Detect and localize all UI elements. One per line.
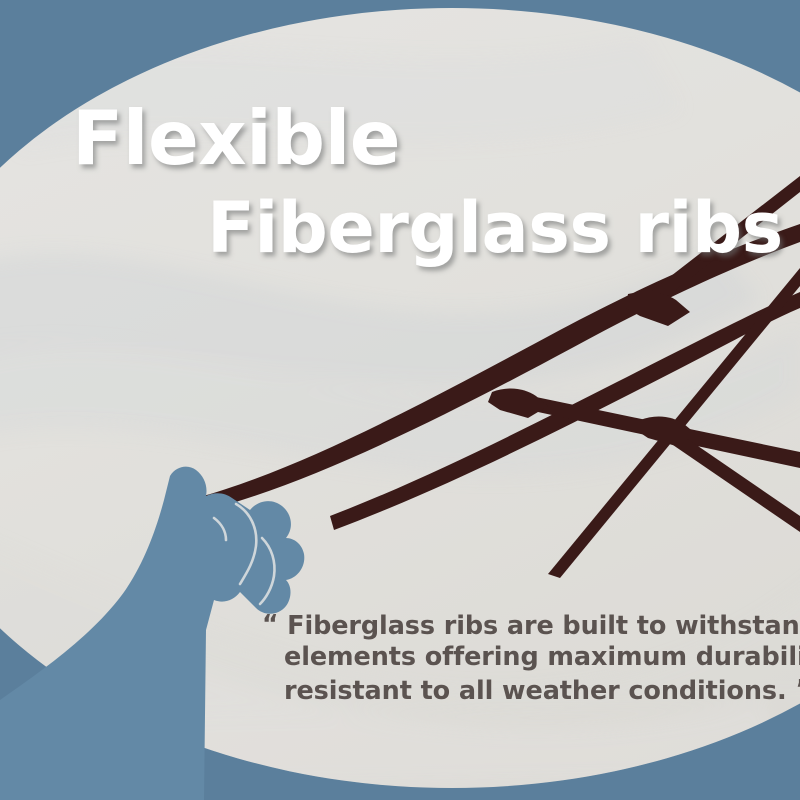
paper-texture-overlay [0, 0, 800, 800]
product-feature-poster: Flexible Fiberglass ribs “ Fiberglass ri… [0, 0, 800, 800]
poster-artwork [0, 0, 800, 800]
